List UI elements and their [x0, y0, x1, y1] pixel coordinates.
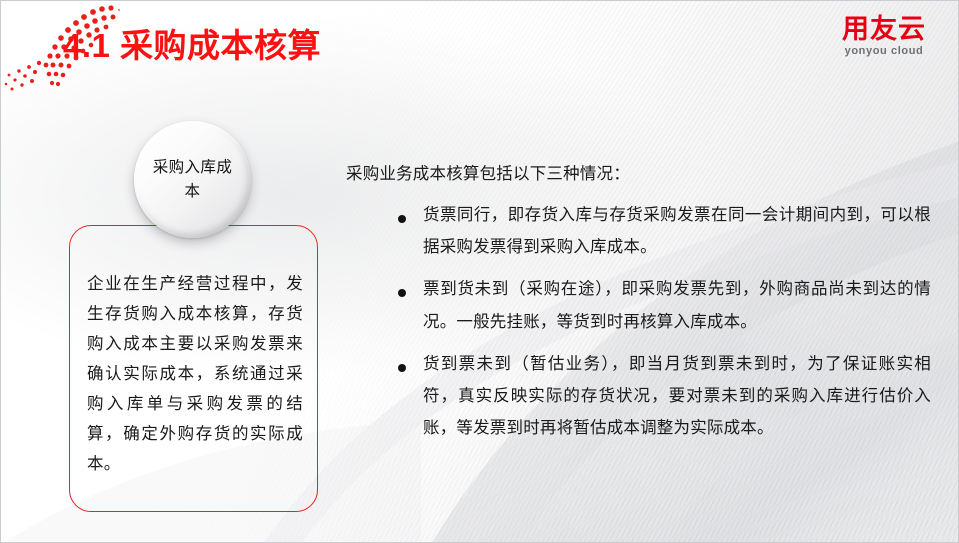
brand-logo: 用友云 yonyou cloud — [830, 15, 938, 57]
bullet-marker — [346, 273, 423, 302]
brand-logo-en: yonyou cloud — [830, 46, 938, 57]
circle-badge: 采购入库成本 — [134, 121, 251, 238]
callout-box-text: 企业在生产经营过程中，发生存货购入成本核算，存货购入成本主要以采购发票来确认实际… — [87, 269, 303, 479]
content-intro-text: 采购业务成本核算包括以下三种情况： — [346, 161, 630, 187]
slide-title: 4.1 采购成本核算 — [63, 25, 321, 66]
list-item-text: 货到票未到（暂估业务），即当月货到票未到时，为了保证账实相符，真实反映实际的存货… — [423, 348, 931, 445]
bullet-marker — [346, 348, 423, 377]
circle-badge-label: 采购入库成本 — [151, 156, 235, 203]
list-item-text: 票到货未到（采购在途），即采购发票先到，外购商品尚未到达的情况。一般先挂账，等货… — [423, 273, 931, 337]
list-item: 货到票未到（暂估业务），即当月货到票未到时，为了保证账实相符，真实反映实际的存货… — [346, 348, 931, 445]
list-item-text: 货票同行，即存货入库与存货采购发票在同一会计期间内到，可以根据采购发票得到采购入… — [423, 199, 931, 263]
bullet-marker — [346, 199, 423, 228]
slide-canvas: 4.1 采购成本核算 用友云 yonyou cloud 企业在生产经营过程中，发… — [0, 0, 959, 543]
list-item: 货票同行，即存货入库与存货采购发票在同一会计期间内到，可以根据采购发票得到采购入… — [346, 199, 931, 263]
list-item: 票到货未到（采购在途），即采购发票先到，外购商品尚未到达的情况。一般先挂账，等货… — [346, 273, 931, 337]
bullet-list: 货票同行，即存货入库与存货采购发票在同一会计期间内到，可以根据采购发票得到采购入… — [346, 199, 931, 454]
brand-logo-cn: 用友云 — [830, 15, 938, 43]
